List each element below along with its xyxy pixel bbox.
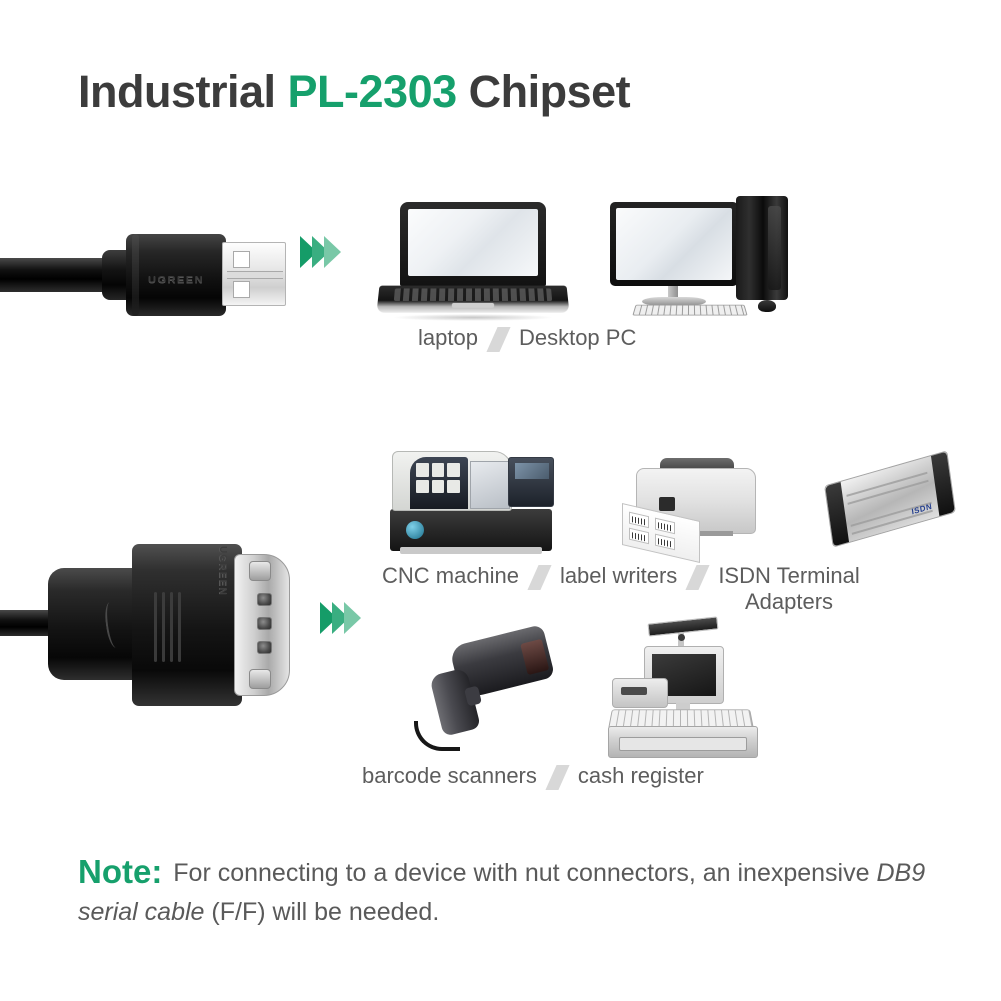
cash-drawer-lock: [678, 634, 685, 641]
usb-cable-graphic: UGREEN: [0, 218, 290, 328]
device-label-cash-register: cash register: [578, 763, 704, 789]
arrow-chevrons-usb: [300, 236, 336, 268]
isdn-card-end: [825, 482, 849, 546]
db9-pin: [257, 593, 272, 606]
db9-screw: [249, 561, 271, 581]
device-label-row-1: laptop Desktop PC: [418, 325, 636, 352]
db9-pin: [257, 641, 272, 654]
isdn-card-body: ISDN: [824, 450, 956, 547]
cnc-machine-icon: [382, 437, 560, 561]
scanner-cable: [414, 721, 460, 751]
label-divider-slash: [486, 327, 510, 352]
printed-label: [655, 518, 675, 535]
device-label-cnc-machine: CNC machine: [382, 563, 519, 589]
cnc-knob: [406, 521, 424, 539]
pc-tower: [736, 196, 788, 300]
laptop-trackpad: [452, 303, 494, 308]
db9-cable-graphic: UGREEN: [0, 530, 320, 720]
device-label-barcode-scanners: barcode scanners: [362, 763, 537, 789]
cnc-button: [416, 463, 429, 477]
title-part-1: Industrial: [78, 66, 288, 117]
laptop-screen: [408, 209, 538, 276]
label-printer-icon: [622, 450, 772, 562]
laptop-base: [377, 286, 570, 313]
label-divider-slash: [686, 565, 710, 590]
label-divider-slash: [527, 565, 551, 590]
device-label-row-2: CNC machine label writers ISDN Terminal …: [382, 563, 860, 616]
laptop-lid: [400, 202, 546, 286]
note-keyword: Note:: [78, 853, 162, 890]
usb-tongue: [227, 271, 283, 279]
laptop-shadow: [392, 314, 554, 321]
scanner-window: [520, 639, 549, 675]
device-label-row-3: barcode scanners cash register: [362, 763, 704, 790]
usb-contact-pad: [233, 251, 250, 268]
device-label-isdn-terminal-adapters: ISDN Terminal Adapters: [718, 563, 859, 616]
device-label-desktop-pc: Desktop PC: [519, 325, 636, 351]
cnc-plinth: [400, 547, 542, 554]
db9-metal-shell: [234, 554, 290, 696]
note-text-before: For connecting to a device with nut conn…: [166, 859, 876, 887]
page-title: Industrial PL-2303 Chipset: [78, 66, 630, 118]
monitor-screen: [616, 208, 732, 280]
cnc-button: [416, 480, 429, 494]
db9-pin: [257, 617, 272, 630]
db9-connector-hood: UGREEN: [132, 544, 242, 706]
receipt-printer: [612, 678, 668, 708]
cnc-control-panel: [508, 457, 554, 507]
printed-label: [629, 528, 649, 545]
isdn-card-end: [931, 452, 955, 516]
device-label-laptop: laptop: [418, 325, 478, 351]
note-text: Note: For connecting to a device with nu…: [78, 850, 958, 929]
usb-metal-shell: [222, 242, 286, 306]
title-highlight-chipset: PL-2303: [288, 66, 457, 117]
isdn-terminal-adapter-icon: ISDN: [818, 450, 966, 550]
laptop-icon: [378, 202, 568, 322]
arrow-chevrons-db9: [320, 602, 356, 634]
ugreen-brand-logo-db9: UGREEN: [217, 546, 228, 596]
cnc-button: [432, 463, 445, 477]
cash-register-icon: [606, 620, 766, 760]
db9-rib: [178, 592, 181, 662]
cnc-button: [447, 463, 460, 477]
db9-screw: [249, 669, 271, 689]
cnc-button: [447, 480, 460, 494]
laptop-keyboard: [394, 288, 552, 300]
ugreen-brand-logo-usb: UGREEN: [148, 275, 204, 285]
db9-rib: [162, 592, 165, 662]
title-part-2: Chipset: [457, 66, 631, 117]
cnc-window: [470, 461, 510, 509]
printed-label: [629, 512, 649, 529]
chevron-right-icon: [324, 236, 341, 268]
cnc-button: [432, 480, 445, 494]
device-label-label-writers: label writers: [560, 563, 677, 589]
pc-mouse: [758, 300, 776, 312]
printer-badge: [659, 497, 675, 511]
chevron-right-icon: [344, 602, 361, 634]
note-text-after: (F/F) will be needed.: [204, 898, 439, 926]
usb-contact-pad: [233, 281, 250, 298]
printed-label: [655, 534, 675, 551]
cash-drawer: [608, 726, 758, 758]
barcode-scanner-icon: [400, 625, 580, 757]
desktop-pc-icon: [608, 196, 808, 322]
monitor-frame: [610, 202, 738, 286]
db9-rib: [170, 592, 173, 662]
cnc-button-pad: [416, 463, 460, 493]
pc-keyboard: [632, 305, 747, 316]
label-divider-slash: [545, 765, 569, 790]
usb-connector-housing: UGREEN: [126, 234, 226, 316]
db9-rib: [154, 592, 157, 662]
